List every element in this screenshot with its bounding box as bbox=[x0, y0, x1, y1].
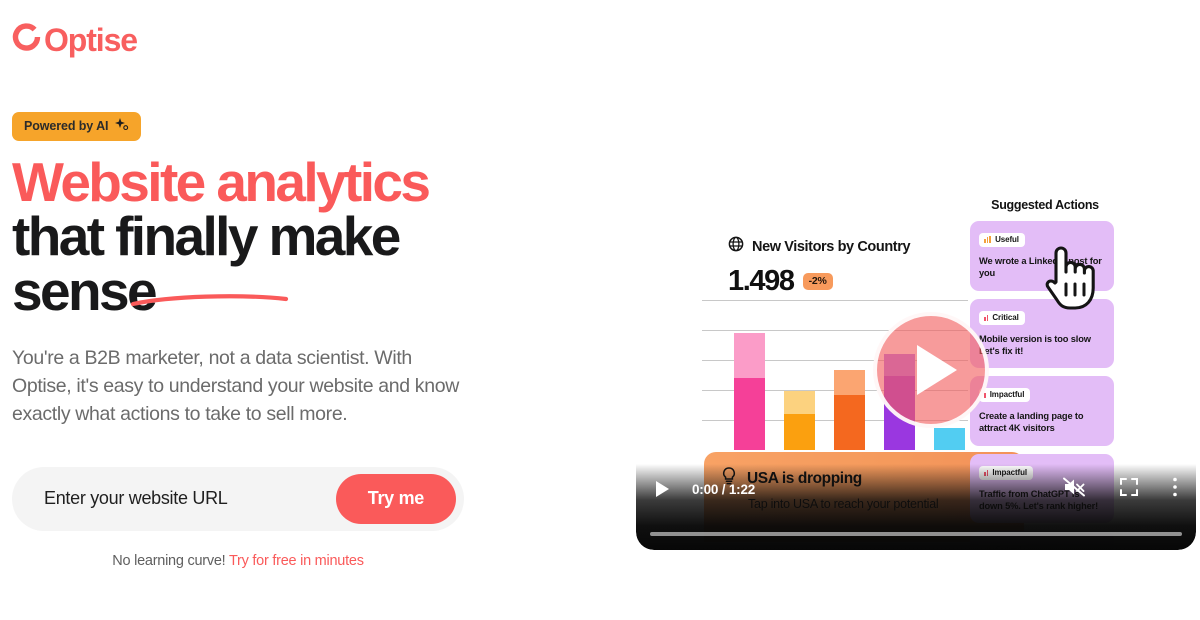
hero-headline: Website analytics that finally make sens… bbox=[12, 155, 532, 318]
severity-bars-icon bbox=[984, 236, 991, 243]
suggested-action-text: We wrote a LinkedIn post for you bbox=[979, 255, 1105, 280]
suggested-actions-title: Suggested Actions bbox=[970, 198, 1120, 212]
kpi-value: 1.498 bbox=[728, 267, 794, 296]
sparkle-icon bbox=[114, 117, 129, 135]
hero-section: Powered by AI Website analytics that fin… bbox=[12, 112, 532, 569]
play-icon bbox=[917, 345, 957, 395]
severity-badge: Useful bbox=[979, 233, 1025, 247]
headline-line-3: sense bbox=[12, 264, 532, 318]
landing-page: Optise Product Resources About us Get St… bbox=[0, 0, 1200, 620]
chart-bar bbox=[834, 370, 865, 450]
video-controls-bar: 0:00 / 1:22 bbox=[636, 464, 1196, 550]
fullscreen-icon[interactable] bbox=[1119, 477, 1139, 502]
kpi-title: New Visitors by Country bbox=[752, 239, 910, 255]
kpi-new-visitors: New Visitors by Country 1.498 -2% bbox=[728, 236, 988, 296]
chart-bar-segment-top bbox=[834, 370, 865, 395]
severity-label: Impactful bbox=[990, 390, 1025, 399]
kpi-value-row: 1.498 -2% bbox=[728, 267, 988, 296]
chart-bar bbox=[734, 333, 765, 450]
url-form: Try me bbox=[12, 467, 464, 531]
video-time-display: 0:00 / 1:22 bbox=[692, 482, 755, 497]
severity-bars-icon bbox=[984, 314, 988, 321]
hero-subtext: You're a B2B marketer, not a data scient… bbox=[12, 345, 462, 429]
chart-bar-segment-top bbox=[784, 391, 815, 414]
headline-line-2: that finally make bbox=[12, 205, 399, 267]
chart-bar bbox=[784, 391, 815, 450]
kpi-delta-badge: -2% bbox=[803, 273, 833, 290]
chart-bar bbox=[934, 428, 965, 450]
severity-badge: Impactful bbox=[979, 388, 1030, 402]
video-controls-row: 0:00 / 1:22 bbox=[636, 472, 1196, 506]
chart-bar-segment-base bbox=[934, 428, 965, 450]
suggested-action-card[interactable]: Useful We wrote a LinkedIn post for you bbox=[970, 221, 1114, 291]
try-me-button[interactable]: Try me bbox=[336, 474, 456, 524]
kebab-menu-icon[interactable] bbox=[1172, 476, 1178, 503]
play-icon[interactable] bbox=[656, 481, 669, 497]
globe-icon bbox=[728, 236, 744, 257]
chart-bar-segment-base bbox=[734, 378, 765, 450]
suggested-action-card[interactable]: Impactful Create a landing page to attra… bbox=[970, 376, 1114, 446]
free-trial-note-plain: No learning curve! bbox=[112, 553, 229, 569]
chart-bar-segment-base bbox=[784, 414, 815, 450]
chart-bar-segment-top bbox=[734, 333, 765, 378]
brand-logo[interactable]: Optise bbox=[12, 22, 137, 57]
suggested-action-card[interactable]: Critical Mobile version is too slow Let'… bbox=[970, 299, 1114, 369]
powered-by-ai-label: Powered by AI bbox=[24, 119, 108, 133]
kpi-header: New Visitors by Country bbox=[728, 236, 988, 257]
headline-line-1: Website analytics bbox=[12, 155, 532, 209]
optise-o-mark-icon bbox=[12, 22, 42, 57]
video-play-overlay-button[interactable] bbox=[873, 312, 989, 428]
suggested-action-text: Create a landing page to attract 4K visi… bbox=[979, 410, 1105, 435]
free-trial-note: No learning curve! Try for free in minut… bbox=[12, 553, 464, 569]
powered-by-ai-badge: Powered by AI bbox=[12, 112, 141, 141]
chart-bar-segment-base bbox=[834, 395, 865, 450]
suggested-action-text: Mobile version is too slow Let's fix it! bbox=[979, 333, 1105, 358]
speaker-muted-icon[interactable] bbox=[1062, 476, 1086, 503]
severity-label: Critical bbox=[992, 313, 1018, 322]
severity-label: Useful bbox=[995, 235, 1019, 244]
website-url-input[interactable] bbox=[12, 468, 336, 530]
headline-line-2-wrap: that finally make bbox=[12, 209, 532, 263]
product-video-player[interactable]: New Visitors by Country 1.498 -2% bbox=[636, 0, 1196, 550]
brand-name: Optise bbox=[44, 24, 137, 56]
severity-badge: Critical bbox=[979, 311, 1025, 325]
video-progress-bar[interactable] bbox=[650, 532, 1182, 536]
free-trial-link[interactable]: Try for free in minutes bbox=[229, 553, 364, 569]
